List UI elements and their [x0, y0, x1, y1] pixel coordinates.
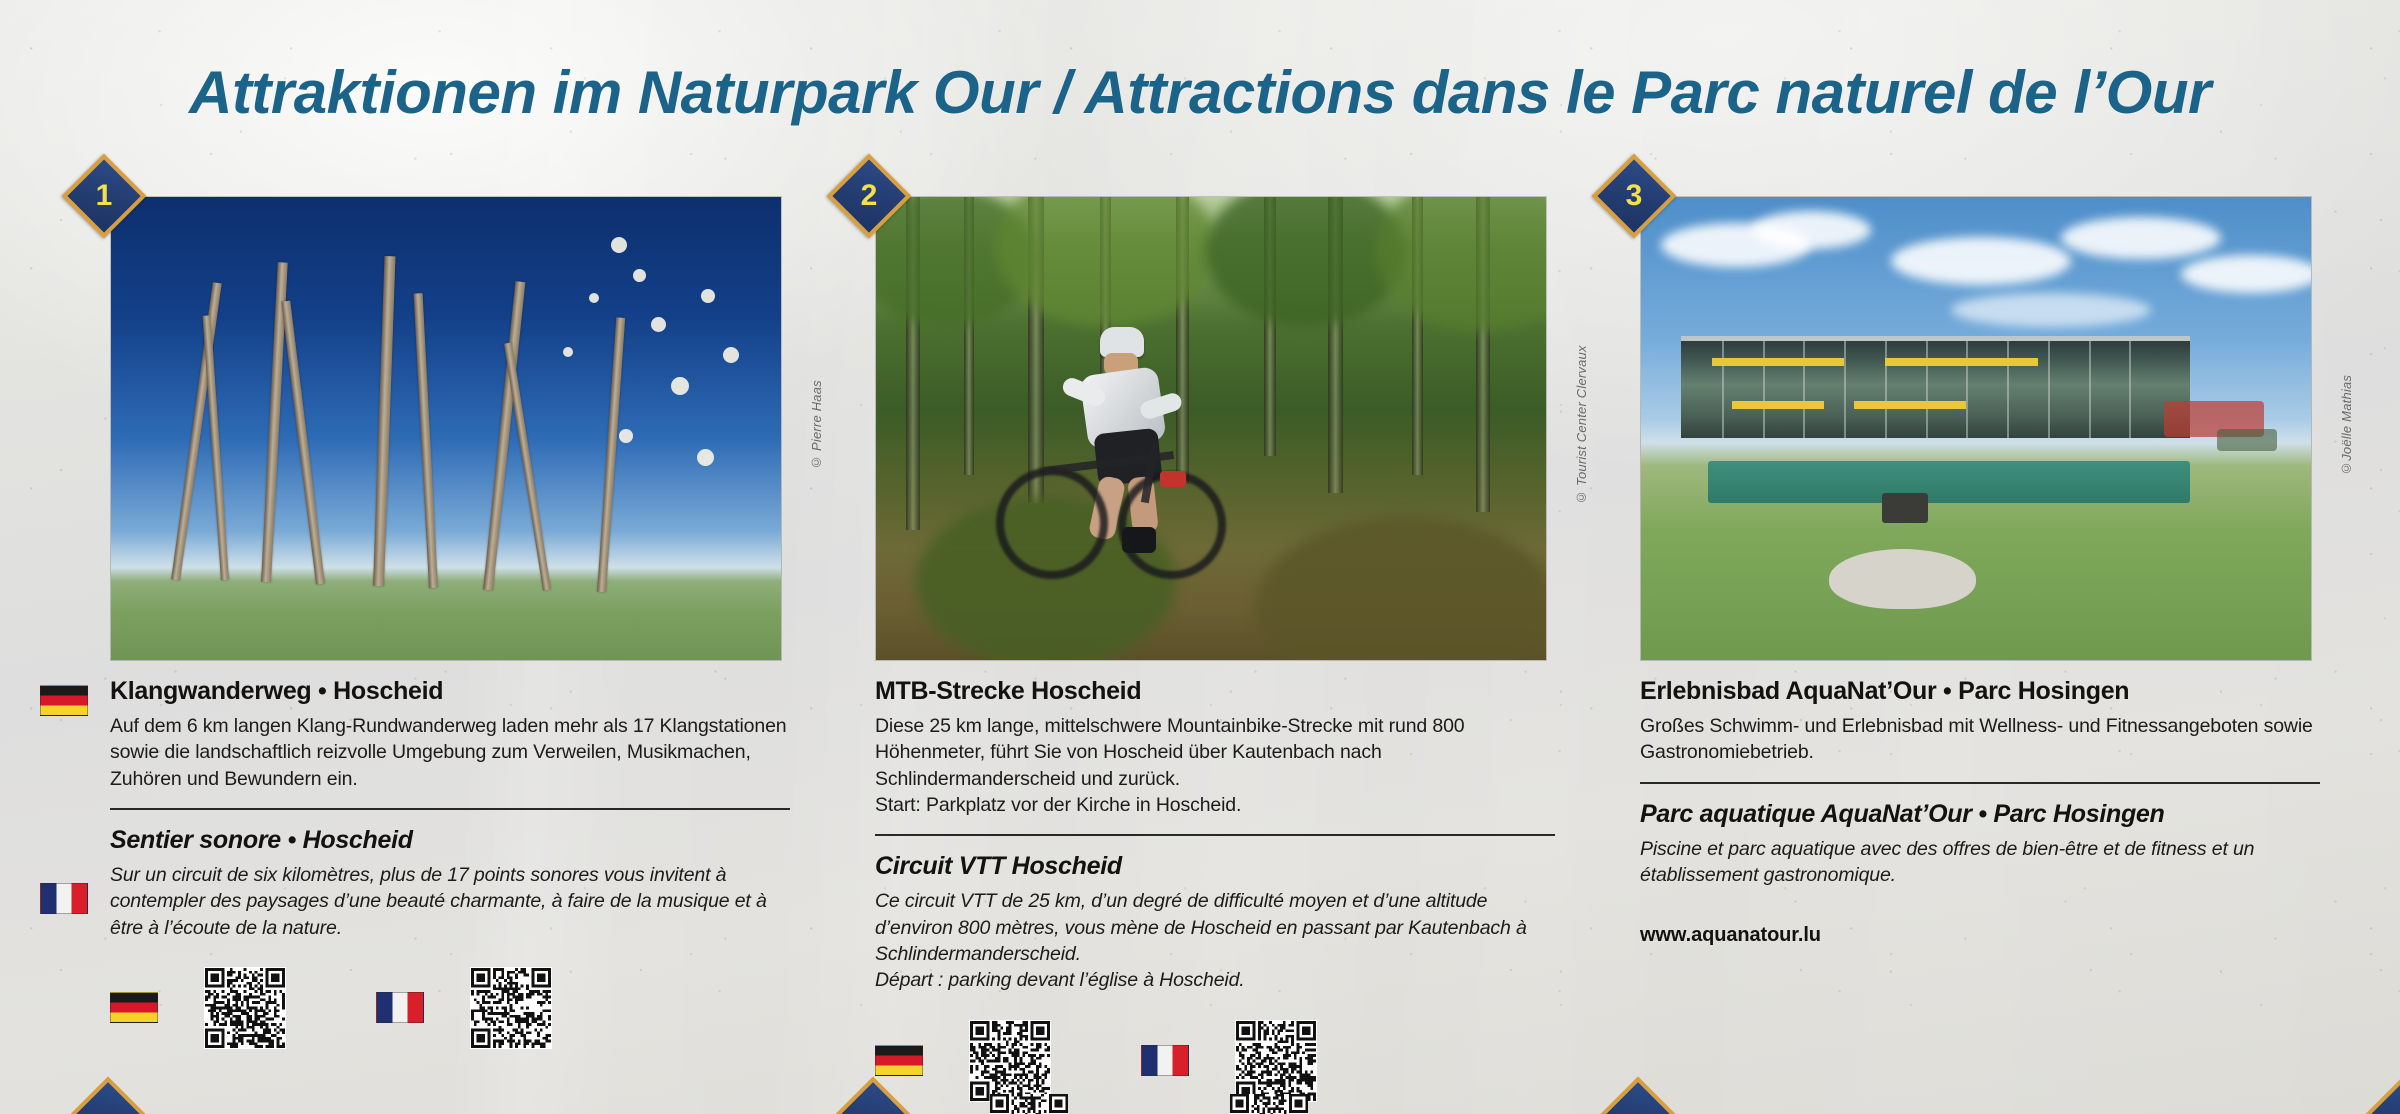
french-flag-icon [40, 883, 88, 914]
sound-trail-photo-art [111, 197, 781, 660]
divider [875, 834, 1555, 836]
website-url[interactable]: www.aquanatour.lu [1640, 924, 2320, 947]
photo-block: 3 ©Joëlle Mathias [1640, 196, 2352, 661]
qr-row [110, 967, 790, 1049]
french-flag-icon [376, 992, 424, 1023]
photo-credit: © Tourist Center Clervaux [1567, 196, 1589, 661]
qr-group-french [376, 967, 552, 1049]
section-title-de: Erlebnisbad AquaNat’Our • Parc Hosingen [1640, 677, 2320, 706]
section-body-fr: Piscine et parc aquatique avec des offre… [1640, 836, 2320, 889]
qr-row [875, 1020, 1555, 1102]
attraction-photo [110, 196, 782, 661]
section-title-fr: Circuit VTT Hoscheid [875, 852, 1555, 881]
lawn-path [1829, 549, 1976, 609]
photo-block: 1 © Pierre Haas [110, 196, 822, 661]
photo-credit: © Pierre Haas [802, 196, 824, 661]
qr-code-french[interactable] [470, 967, 552, 1049]
attraction-panel-3: 3 ©Joëlle Mathias Erlebnisbad AquaNat’Ou… [1640, 196, 2352, 947]
building [1681, 336, 2190, 438]
section-body-de-2: Start: Parkplatz vor der Kirche in Hosch… [875, 792, 1555, 818]
attraction-photo [1640, 196, 2312, 661]
attraction-photo [875, 196, 1547, 661]
mountainbike-photo-art [876, 197, 1546, 660]
french-flag-icon [1141, 1045, 1189, 1076]
panel-text-column: Erlebnisbad AquaNat’Our • Parc Hosingen … [1640, 661, 2320, 947]
section-body-de: Großes Schwimm- und Erlebnisbad mit Well… [1640, 713, 2320, 766]
panel-number: 2 [843, 170, 895, 222]
information-board: Attraktionen im Naturpark Our / Attracti… [0, 0, 2400, 1114]
next-row-badge [2363, 1076, 2400, 1114]
panel-number: 1 [78, 170, 130, 222]
section-title-de: Klangwanderweg • Hoscheid [110, 677, 790, 706]
aquanatour-photo-art [1641, 197, 2311, 660]
qr-group-german [110, 967, 286, 1049]
qr-code-french[interactable] [1235, 1020, 1317, 1102]
german-flag-icon [40, 685, 88, 716]
section-body-fr: Ce circuit VTT de 25 km, d’un degré de d… [875, 888, 1555, 967]
qr-code-partial-right[interactable] [1230, 1094, 1308, 1114]
panel-number: 3 [1608, 170, 1660, 222]
section-title-de: MTB-Strecke Hoscheid [875, 677, 1555, 706]
attraction-panel-2: 2 © Tourist Center Clervaux MTB-Strecke … [875, 196, 1587, 1102]
next-row-badge [1598, 1076, 1677, 1114]
next-row-badge [68, 1076, 147, 1114]
qr-code-partial-left[interactable] [990, 1094, 1068, 1114]
qr-code-german[interactable] [969, 1020, 1051, 1102]
section-body-de: Auf dem 6 km langen Klang-Rundwanderweg … [110, 713, 790, 792]
divider [1640, 782, 2320, 784]
divider [110, 808, 790, 810]
german-flag-icon [875, 1045, 923, 1076]
section-body-de: Diese 25 km lange, mittelschwere Mountai… [875, 713, 1555, 792]
qr-code-german[interactable] [204, 967, 286, 1049]
section-body-fr-2: Départ : parking devant l’église à Hosch… [875, 967, 1555, 993]
attraction-panel-1: 1 © Pierre Haas Klangwanderweg • Hoschei… [110, 196, 822, 1049]
section-title-fr: Sentier sonore • Hoscheid [110, 826, 790, 855]
section-title-fr: Parc aquatique AquaNat’Our • Parc Hosing… [1640, 800, 2320, 829]
qr-group-german [875, 1020, 1051, 1102]
photo-block: 2 © Tourist Center Clervaux [875, 196, 1587, 661]
page-title: Attraktionen im Naturpark Our / Attracti… [0, 58, 2400, 127]
swimming-pool [1708, 461, 2190, 503]
qr-group-french [1141, 1020, 1317, 1102]
german-flag-icon [110, 992, 158, 1023]
section-body-fr: Sur un circuit de six kilomètres, plus d… [110, 862, 790, 941]
panel-text-column: Klangwanderweg • Hoscheid Auf dem 6 km l… [110, 661, 790, 1049]
panel-text-column: MTB-Strecke Hoscheid Diese 25 km lange, … [875, 661, 1555, 1102]
photo-credit: ©Joëlle Mathias [2332, 196, 2354, 661]
